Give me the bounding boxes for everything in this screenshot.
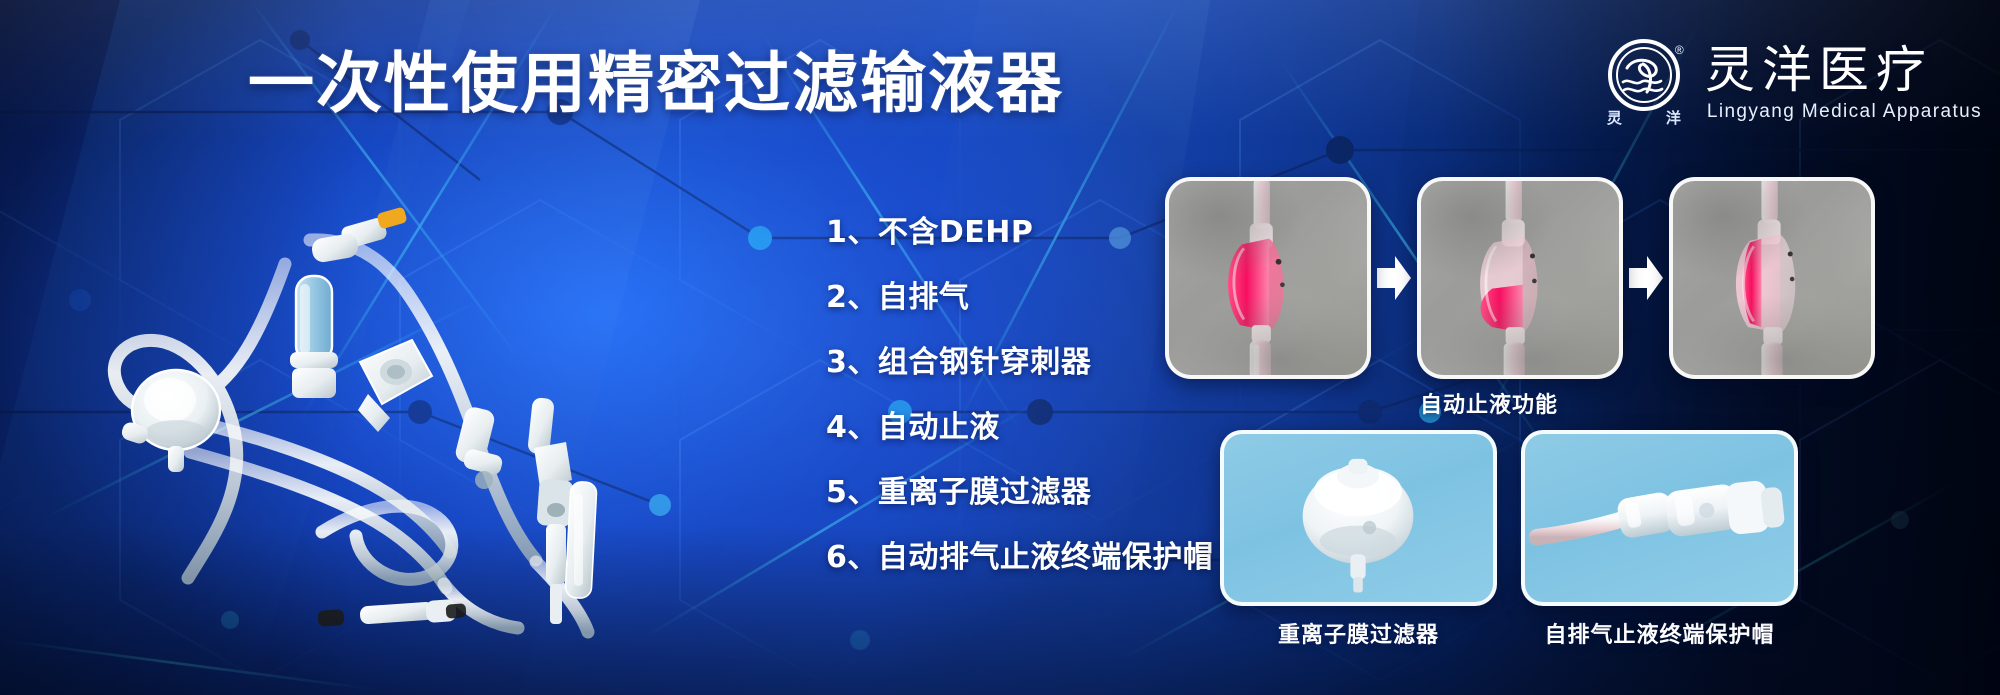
membrane-filter-caption: 重离子膜过滤器 <box>1220 622 1497 650</box>
roller-clamp <box>358 340 432 432</box>
auto-stop-step-3-cell <box>1669 177 1875 379</box>
terminal-cap-caption: 自排气止液终端保护帽 <box>1521 622 1798 650</box>
bottom-product-panels: 重离子膜过滤器 <box>1220 430 1798 650</box>
infusion-set-illustration <box>60 180 800 660</box>
terminal-cap-photo <box>1521 430 1798 606</box>
photo-background-texture <box>1421 181 1619 375</box>
auto-stop-step-3-photo <box>1669 177 1875 379</box>
panel-terminal-cap: 自排气止液终端保护帽 <box>1521 430 1798 650</box>
auto-stop-step-1-photo <box>1165 177 1371 379</box>
brand-mark-left-char: 灵 <box>1607 110 1622 127</box>
feature-item-5: 5、重离子膜过滤器 <box>826 476 1246 510</box>
registered-trademark-icon: ® <box>1675 44 1684 56</box>
auto-stop-sequence <box>1165 177 1875 379</box>
brand-mark-right-char: 洋 <box>1666 110 1681 127</box>
sequence-arrow-2 <box>1623 177 1669 379</box>
auto-stop-sequence-caption: 自动止液功能 <box>1420 392 1558 420</box>
terminal-protective-cap <box>565 481 597 598</box>
luer-tip <box>317 599 466 627</box>
wave-seal-icon <box>1607 38 1681 112</box>
feature-item-6: 6、自动排气止液终端保护帽 <box>826 541 1246 575</box>
product-photo-infusion-set <box>60 180 800 660</box>
drip-chamber <box>290 276 338 398</box>
photo-background-texture <box>1673 181 1871 375</box>
brand-lockup: ® 灵 洋 灵洋医疗 Lingyang Medical Apparatus <box>1607 38 1982 130</box>
page-title: 一次性使用精密过滤输液器 <box>248 48 1038 120</box>
arrow-right-icon <box>1629 256 1663 300</box>
arrow-right-icon <box>1377 256 1411 300</box>
banner-root: 一次性使用精密过滤输液器 ® 灵 洋 灵洋医疗 Lingyang Medical… <box>0 0 2000 695</box>
sequence-arrow-1 <box>1371 177 1417 379</box>
feature-item-4: 4、自动止液 <box>826 411 1246 445</box>
membrane-filter-photo <box>1220 430 1497 606</box>
brand-logo-mark: ® 灵 洋 <box>1607 38 1685 130</box>
brand-name-english: Lingyang Medical Apparatus <box>1705 100 1982 124</box>
photo-background-texture <box>1169 181 1367 375</box>
panel-membrane-filter: 重离子膜过滤器 <box>1220 430 1497 650</box>
brand-mark-subtext: 灵 洋 <box>1607 110 1681 127</box>
terminal-cap-illustration <box>1525 434 1794 602</box>
auto-stop-step-2-cell <box>1417 177 1669 379</box>
auto-stop-step-1-cell <box>1165 177 1417 379</box>
brand-name-chinese: 灵洋医疗 <box>1705 42 1982 98</box>
brand-name-block: 灵洋医疗 Lingyang Medical Apparatus <box>1705 42 1982 126</box>
auto-stop-step-2-photo <box>1417 177 1623 379</box>
membrane-filter-illustration <box>1224 434 1493 602</box>
